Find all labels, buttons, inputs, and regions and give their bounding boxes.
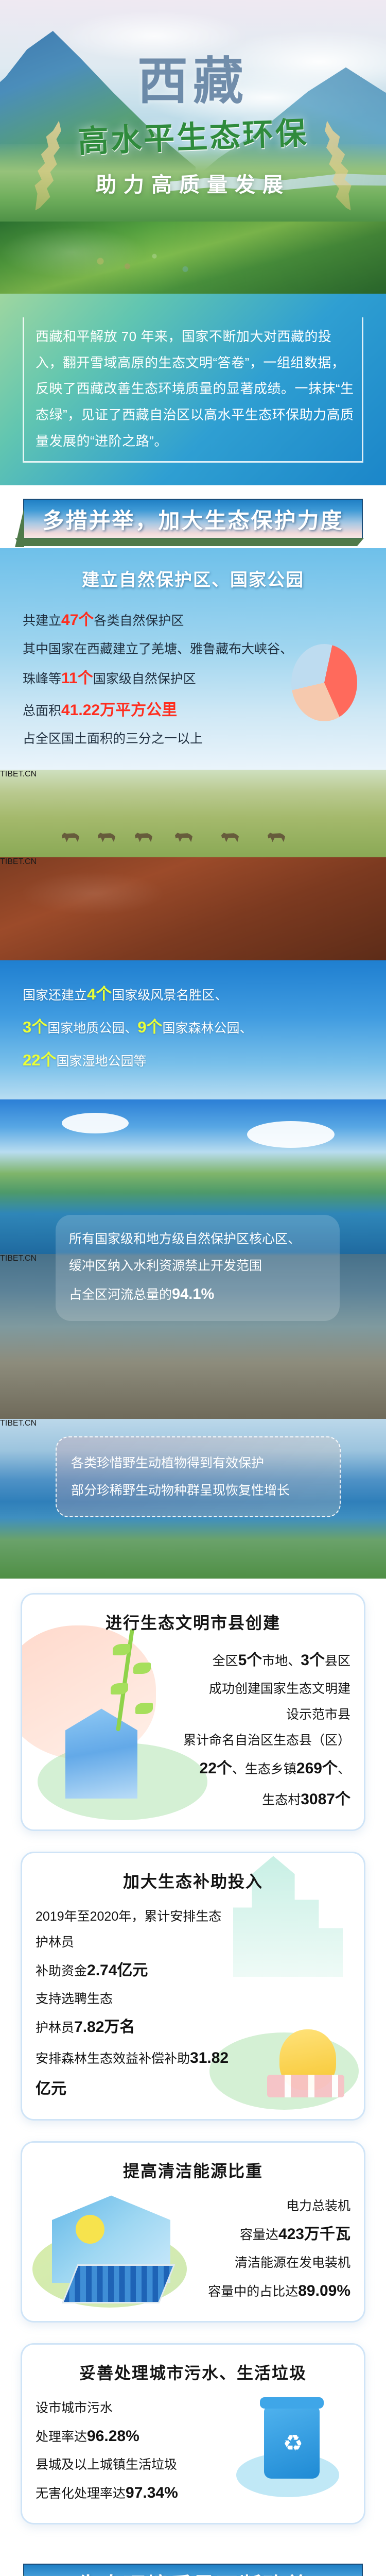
card-waste-treatment: ♻ 妥善处理城市污水、生活垃圾 设市城市污水 处理率达96.28% 县城及以上城… <box>21 2343 365 2524</box>
parks-line3-post: 国家湿地公园等 <box>56 1054 146 1069</box>
section1-banner: 多措并举，加大生态保护力度 <box>23 499 363 539</box>
parks-line1-pre: 国家还建立 <box>23 988 87 1003</box>
wildlife-line-1: 各类珍惜野生动植物得到有效保护 <box>71 1450 325 1477</box>
reserve-line1-pre: 共建立 <box>23 614 61 628</box>
reserve-line-5: 占全区国土面积的三分之一以上 <box>23 726 363 752</box>
card1-l1-num: 5个 <box>238 1652 262 1669</box>
card-eco-city-creation: 进行生态文明市县创建 全区5个市地、3个县区 成功创建国家生态文明建 设示范市县… <box>21 1593 365 1831</box>
parks-line-3: 22个国家湿地公园等 <box>23 1044 363 1077</box>
rivers-line3-pre: 占全区河流总量的 <box>69 1287 172 1302</box>
card3-title: 提高清洁能源比重 <box>36 2158 350 2182</box>
grassland-photo: TIBET.CN <box>0 770 386 857</box>
reserve-line4-pre: 总面积 <box>23 704 61 718</box>
card2-line-4: 护林员7.82万名 <box>36 2012 232 2043</box>
card1-l1-post: 县区 <box>325 1654 350 1668</box>
card1-l5-post: 、 <box>338 1762 350 1776</box>
parks-line2-num-a: 3个 <box>23 1018 47 1036</box>
horse-icon <box>175 831 192 842</box>
card3-line-4: 容量中的占比达89.09% <box>138 2276 350 2307</box>
card1-l6-num: 3087个 <box>301 1791 350 1808</box>
card2-l4-num: 7.82万名 <box>74 2019 135 2036</box>
reserve-line3-pre: 珠峰等 <box>23 672 61 686</box>
card2-l4-pre: 护林员 <box>36 2021 74 2035</box>
cloud-icon <box>247 1121 335 1148</box>
card-eco-subsidy: 加大生态补助投入 2019年至2020年，累计安排生态护林员 补助资金2.74亿… <box>21 1852 365 2121</box>
card3-l4-pre: 容量中的占比达 <box>208 2284 298 2299</box>
parks-line1-post: 国家级风景名胜区、 <box>112 988 227 1003</box>
rivers-line-3: 占全区河流总量的94.1% <box>69 1279 326 1310</box>
card2-l2-pre: 补助资金 <box>36 1964 87 1978</box>
national-parks-panel: 国家还建立4个国家级风景名胜区、 3个国家地质公园、9个国家森林公园、 22个国… <box>0 960 386 1099</box>
nature-reserve-panel: 建立自然保护区、国家公园 共建立47个各类自然保护区 其中国家在西藏建立了羌塘、… <box>0 548 386 770</box>
card1-title: 进行生态文明市县创建 <box>36 1610 350 1634</box>
section2-banner-wrap: 生态环境质量不断改善 <box>0 2550 386 2576</box>
parks-line-2: 3个国家地质公园、9个国家森林公园、 <box>23 1011 363 1044</box>
card3-line-3: 清洁能源在发电装机 <box>138 2250 350 2276</box>
reserve-line3-post: 国家级自然保护区 <box>93 672 196 686</box>
rivers-line3-num: 94.1% <box>172 1286 214 1302</box>
section1-banner-label: 多措并举，加大生态保护力度 <box>42 503 343 535</box>
section2-banner-label: 生态环境质量不断改善 <box>77 2568 309 2576</box>
card4-l4-pre: 无害化处理率达 <box>36 2486 126 2501</box>
card3-line-2: 容量达423万千瓦 <box>138 2219 350 2250</box>
stat-cards-section: 进行生态文明市县创建 全区5个市地、3个县区 成功创建国家生态文明建 设示范市县… <box>0 1579 386 2550</box>
parks-line-1: 国家还建立4个国家级风景名胜区、 <box>23 978 363 1011</box>
card4-l2-pre: 处理率达 <box>36 2430 87 2444</box>
reserve-line3-num: 11个 <box>61 670 93 687</box>
rivers-line-2: 缓冲区纳入水利资源禁止开发范围 <box>69 1253 326 1279</box>
reserve-pie-chart-icon <box>291 644 357 721</box>
parks-line3-num: 22个 <box>23 1051 56 1069</box>
red-earth-photo: TIBET.CN <box>0 857 386 960</box>
card2-title: 加大生态补助投入 <box>36 1869 350 1892</box>
watermark: TIBET.CN <box>0 770 386 779</box>
card4-line-2: 处理率达96.28% <box>36 2421 232 2452</box>
card4-l4-num: 97.34% <box>126 2484 178 2501</box>
card1-l5-mid: 、生态乡镇 <box>232 1762 296 1776</box>
card4-title: 妥善处理城市污水、生活垃圾 <box>36 2360 350 2384</box>
infographic-page: 西藏 高水平生态环保 助力高质量发展 西藏和平解放 70 年来，国家不断加大对西… <box>0 0 386 2576</box>
card3-l2-pre: 容量达 <box>240 2228 278 2242</box>
intro-section: 西藏和平解放 70 年来，国家不断加大对西藏的投入，翻开雪域高原的生态文明“答卷… <box>0 294 386 485</box>
card4-line-4: 无害化处理率达97.34% <box>36 2478 232 2509</box>
card2-line-5: 安排森林生态效益补偿补助31.82亿元 <box>36 2043 232 2105</box>
card2-line-1: 2019年至2020年，累计安排生态护林员 <box>36 1904 232 1955</box>
card1-l6-pre: 生态村 <box>262 1793 301 1807</box>
intro-text-box: 西藏和平解放 70 年来，国家不断加大对西藏的投入，翻开雪域高原的生态文明“答卷… <box>23 317 363 463</box>
card1-line-4: 累计命名自治区生态县（区） <box>138 1727 350 1753</box>
parks-line2-mid-b: 国家森林公园、 <box>163 1021 253 1036</box>
wildlife-text-box: 各类珍惜野生动植物得到有效保护 部分珍稀野生动物种群呈现恢复性增长 <box>56 1436 341 1517</box>
card1-l1-num2: 3个 <box>301 1652 325 1669</box>
parks-line2-mid-a: 国家地质公园、 <box>47 1021 137 1036</box>
horse-icon <box>135 831 152 842</box>
watermark: TIBET.CN <box>0 1419 386 1428</box>
parks-line2-num-b: 9个 <box>137 1018 162 1036</box>
card3-body: 电力总装机 容量达423万千瓦 清洁能源在发电装机 容量中的占比达89.09% <box>36 2193 350 2307</box>
reserve-line1-post: 各类自然保护区 <box>94 614 184 628</box>
reserve-line-1: 共建立47个各类自然保护区 <box>23 604 363 636</box>
watermark: TIBET.CN <box>0 857 386 867</box>
card1-l1-pre: 全区 <box>213 1654 238 1668</box>
card2-line-2: 补助资金2.74亿元 <box>36 1955 232 1986</box>
card1-line-2: 成功创建国家生态文明建 <box>138 1676 350 1702</box>
hero-title-sub: 助力高质量发展 <box>0 168 386 198</box>
section2-banner: 生态环境质量不断改善 <box>23 2564 363 2576</box>
card1-body: 全区5个市地、3个县区 成功创建国家生态文明建 设示范市县 累计命名自治区生态县… <box>36 1645 350 1815</box>
wildlife-line-2: 部分珍稀野生动物种群呈现恢复性增长 <box>71 1477 325 1504</box>
card1-line-5: 22个、生态乡镇269个、 <box>138 1753 350 1784</box>
card1-l1-mid: 市地、 <box>262 1654 301 1668</box>
card3-line-1: 电力总装机 <box>138 2193 350 2219</box>
rivers-text-box: 所有国家级和地方级自然保护区核心区、 缓冲区纳入水利资源禁止开发范围 占全区河流… <box>56 1215 340 1321</box>
hero-banner: 西藏 高水平生态环保 助力高质量发展 <box>0 0 386 222</box>
riverbed-photo: 所有国家级和地方级自然保护区核心区、 缓冲区纳入水利资源禁止开发范围 占全区河流… <box>0 1254 386 1419</box>
card4-body: 设市城市污水 处理率达96.28% 县城及以上城镇生活垃圾 无害化处理率达97.… <box>36 2395 350 2509</box>
reserve-line1-num: 47个 <box>61 612 94 629</box>
card1-l5-num: 22个 <box>200 1760 232 1777</box>
card2-line-3: 支持选聘生态 <box>36 1986 232 2012</box>
card4-l2-num: 96.28% <box>87 2428 139 2445</box>
section1-banner-wrap: 多措并举，加大生态保护力度 <box>0 485 386 548</box>
card2-l2-num: 2.74亿元 <box>87 1962 148 1979</box>
reserve-line4-num: 41.22万平方公里 <box>61 702 177 719</box>
horse-icon <box>62 831 79 842</box>
card1-l5-num2: 269个 <box>296 1760 338 1777</box>
parks-line1-num: 4个 <box>87 985 112 1003</box>
card3-l4-num: 89.09% <box>298 2282 350 2299</box>
intro-village-photo <box>0 222 386 294</box>
card3-l2-num: 423万千瓦 <box>278 2226 350 2243</box>
antelope-lake-photo: 各类珍惜野生动植物得到有效保护 部分珍稀野生动物种群呈现恢复性增长 TIBET.… <box>0 1419 386 1579</box>
horse-icon <box>221 831 239 842</box>
horse-icon <box>268 831 285 842</box>
card4-line-3: 县城及以上城镇生活垃圾 <box>36 2452 232 2478</box>
card-clean-energy: 提高清洁能源比重 电力总装机 容量达423万千瓦 清洁能源在发电装机 容量中的占… <box>21 2141 365 2323</box>
nature-reserve-title: 建立自然保护区、国家公园 <box>23 566 363 591</box>
horse-icon <box>98 831 115 842</box>
card1-line-1: 全区5个市地、3个县区 <box>138 1645 350 1676</box>
intro-paragraph: 西藏和平解放 70 年来，国家不断加大对西藏的投入，翻开雪域高原的生态文明“答卷… <box>36 324 357 454</box>
card1-line-3: 设示范市县 <box>138 1702 350 1727</box>
card1-line-6: 生态村3087个 <box>138 1784 350 1815</box>
card2-body: 2019年至2020年，累计安排生态护林员 补助资金2.74亿元 支持选聘生态 … <box>36 1904 350 2105</box>
cloud-icon <box>62 1113 129 1133</box>
hero-title-tibet: 西藏 <box>0 40 386 113</box>
card2-l5-pre: 安排森林生态效益补偿补助 <box>36 2052 190 2066</box>
rivers-line-1: 所有国家级和地方级自然保护区核心区、 <box>69 1226 326 1252</box>
card4-line-1: 设市城市污水 <box>36 2395 232 2421</box>
